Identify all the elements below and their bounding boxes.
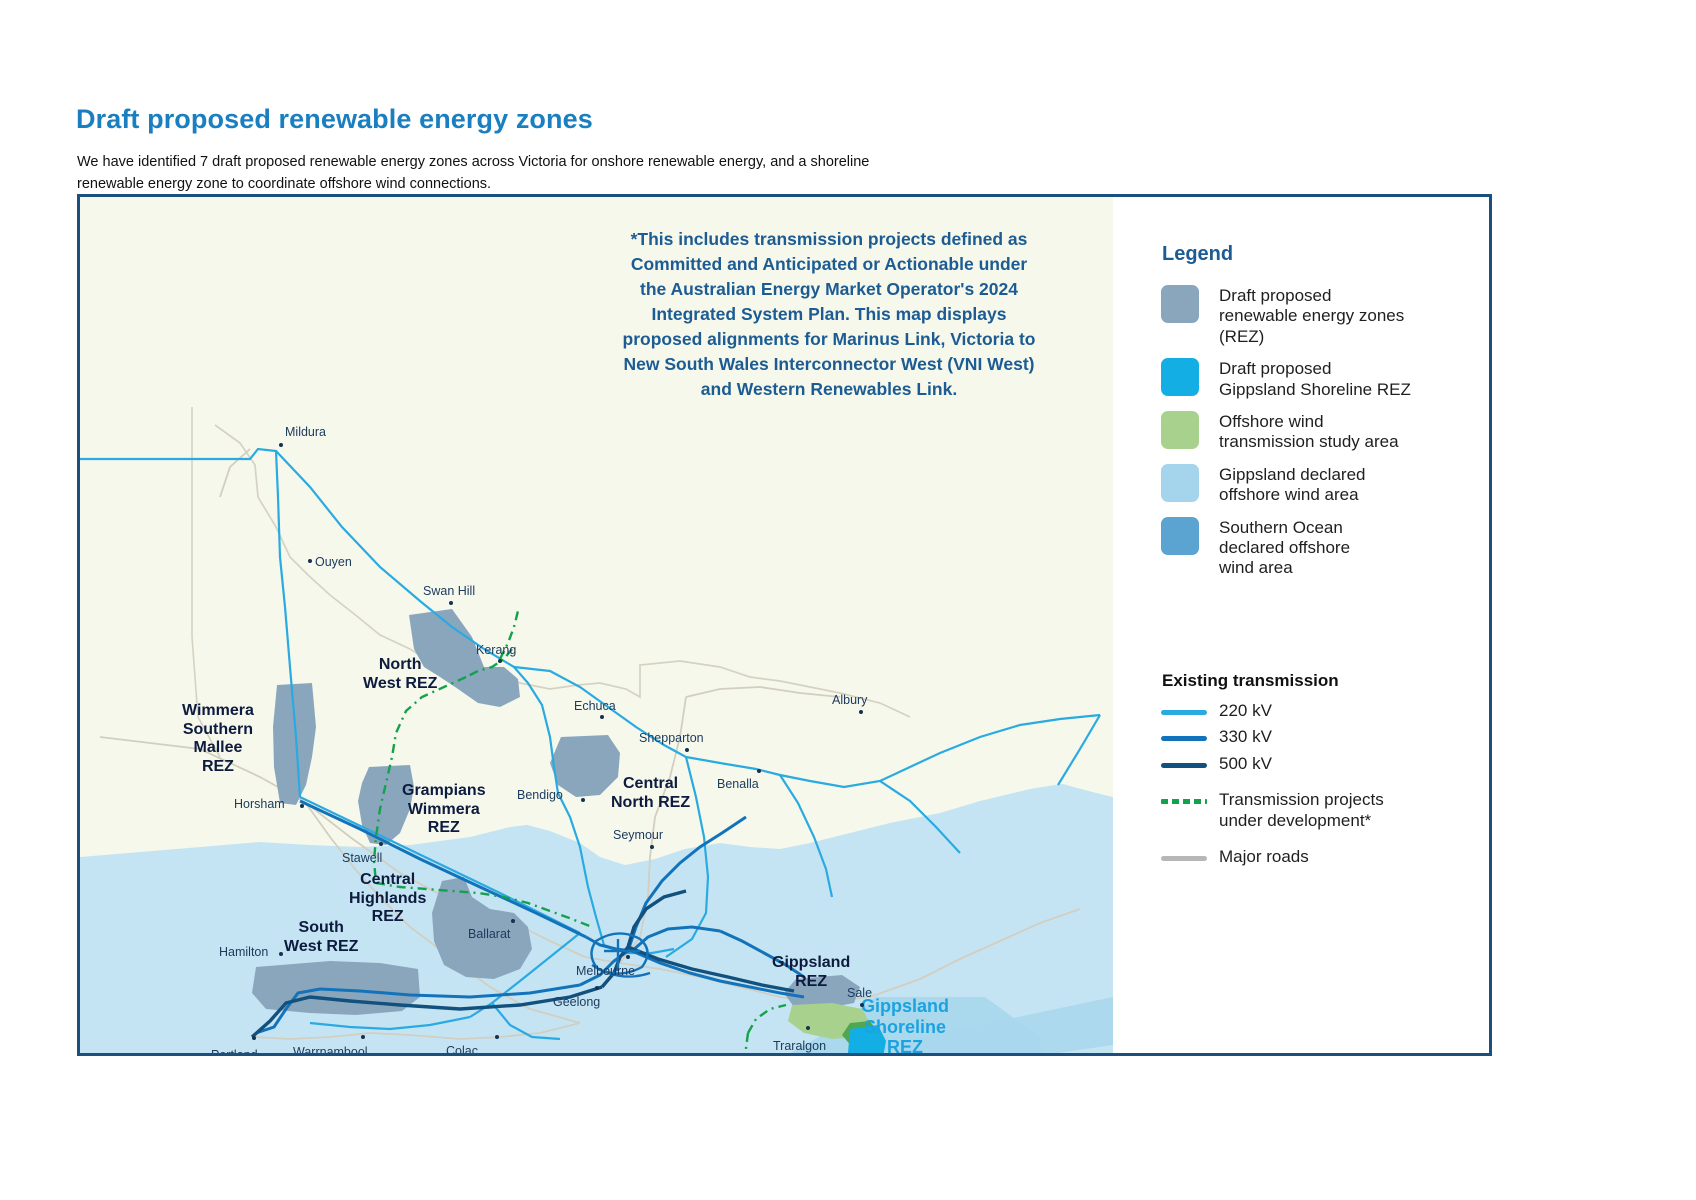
legend-line-item: 330 kV [1127, 727, 1487, 747]
solid-line-icon [1161, 736, 1207, 741]
legend-swatch-icon [1161, 411, 1199, 449]
city-dot-hamilton [279, 952, 283, 956]
city-label-warrnambool: Warrnambool [293, 1046, 368, 1053]
legend-swatch-icon [1161, 285, 1199, 323]
legend-line-item: Transmission projects under development* [1127, 790, 1487, 831]
city-dot-swan-hill [449, 601, 453, 605]
city-dot-echuca [600, 715, 604, 719]
city-dot-ouyen [308, 559, 312, 563]
legend-item-label: Draft proposed Gippsland Shoreline REZ [1219, 358, 1411, 400]
map-note: *This includes transmission projects def… [620, 227, 1038, 402]
legend-line-list: 220 kV330 kV500 kVTransmission projects … [1127, 701, 1487, 873]
solid-line-icon [1161, 710, 1207, 715]
legend-item-label: Draft proposed renewable energy zones (R… [1219, 285, 1404, 347]
legend-swatch-icon [1161, 358, 1199, 396]
city-dot-bendigo [581, 798, 585, 802]
city-dot-warrnambool [361, 1035, 365, 1039]
city-label-mildura: Mildura [285, 426, 326, 439]
solid-line-icon [1161, 856, 1207, 861]
city-label-melbourne: Melbourne [576, 965, 635, 978]
city-dot-geelong [595, 986, 599, 990]
city-label-ouyen: Ouyen [315, 556, 352, 569]
western-port-bay [663, 991, 689, 1015]
legend-line-label: 220 kV [1219, 701, 1272, 721]
city-label-seymour: Seymour [613, 829, 663, 842]
city-dot-stawell [379, 842, 383, 846]
legend-item: Southern Ocean declared offshore wind ar… [1127, 517, 1487, 579]
gippsland-shoreline-rez-label: Gippsland Shoreline REZ [861, 996, 949, 1053]
city-label-traralgon: Traralgon [773, 1040, 826, 1053]
city-dot-colac [495, 1035, 499, 1039]
rez-label-2: Grampians Wimmera REZ [402, 782, 486, 838]
city-label-shepparton: Shepparton [639, 732, 704, 745]
city-label-albury: Albury [832, 694, 867, 707]
city-label-stawell: Stawell [342, 852, 382, 865]
city-dot-shepparton [685, 748, 689, 752]
city-label-benalla: Benalla [717, 778, 759, 791]
legend-line-label: Transmission projects under development* [1219, 790, 1384, 831]
legend-line-label: 500 kV [1219, 754, 1272, 774]
legend-item: Offshore wind transmission study area [1127, 411, 1487, 453]
rez-label-3: Central North REZ [611, 775, 690, 812]
city-dot-horsham [300, 804, 304, 808]
city-dot-albury [859, 710, 863, 714]
rez-label-1: Wimmera Southern Mallee REZ [182, 702, 254, 776]
legend-item: Gippsland declared offshore wind area [1127, 464, 1487, 506]
city-label-hamilton: Hamilton [219, 946, 268, 959]
legend-line-label: 330 kV [1219, 727, 1272, 747]
legend-line-item: 220 kV [1127, 701, 1487, 721]
legend-item-label: Southern Ocean declared offshore wind ar… [1219, 517, 1350, 579]
city-label-echuca: Echuca [574, 700, 616, 713]
city-label-geelong: Geelong [553, 996, 600, 1009]
rez-label-4: Central Highlands REZ [349, 871, 426, 927]
city-dot-seymour [650, 845, 654, 849]
city-dot-mildura [279, 443, 283, 447]
page-subtitle: We have identified 7 draft proposed rene… [77, 151, 877, 196]
legend-item: Draft proposed Gippsland Shoreline REZ [1127, 358, 1487, 400]
legend-panel: Legend Draft proposed renewable energy z… [1113, 197, 1489, 1053]
city-dot-kerang [498, 659, 502, 663]
city-label-portland: Portland [211, 1049, 258, 1053]
dashed-line-icon [1161, 799, 1207, 804]
city-label-horsham: Horsham [234, 798, 285, 811]
city-dot-ballarat [511, 919, 515, 923]
page-title: Draft proposed renewable energy zones [76, 104, 593, 135]
legend-line-item: Major roads [1127, 847, 1487, 867]
legend-item-label: Offshore wind transmission study area [1219, 411, 1399, 453]
page-root: Draft proposed renewable energy zones We… [0, 0, 1696, 1200]
map-figure: *This includes transmission projects def… [77, 194, 1492, 1056]
city-dot-sale [860, 1003, 864, 1007]
city-label-sale: Sale [847, 987, 872, 1000]
legend-item-label: Gippsland declared offshore wind area [1219, 464, 1365, 506]
city-dot-benalla [757, 769, 761, 773]
city-label-bendigo: Bendigo [517, 789, 563, 802]
rez-label-6: Gippsland REZ [772, 954, 850, 991]
rez-label-5: South West REZ [284, 919, 358, 956]
legend-line-item: 500 kV [1127, 754, 1487, 774]
legend-item: Draft proposed renewable energy zones (R… [1127, 285, 1487, 347]
legend-title: Legend [1162, 243, 1233, 266]
city-dot-portland [252, 1036, 256, 1040]
city-dot-traralgon [806, 1026, 810, 1030]
city-label-ballarat: Ballarat [468, 928, 510, 941]
city-label-swan-hill: Swan Hill [423, 585, 475, 598]
city-dot-melbourne [626, 955, 630, 959]
rez-south-west [252, 961, 420, 1015]
legend-swatch-list: Draft proposed renewable energy zones (R… [1127, 285, 1487, 590]
city-label-colac: Colac [446, 1045, 478, 1053]
legend-swatch-icon [1161, 517, 1199, 555]
solid-line-icon [1161, 763, 1207, 768]
legend-swatch-icon [1161, 464, 1199, 502]
rez-label-0: North West REZ [363, 656, 437, 693]
legend-transmission-title: Existing transmission [1162, 671, 1339, 691]
legend-line-label: Major roads [1219, 847, 1309, 867]
city-label-kerang: Kerang [476, 644, 516, 657]
map-canvas[interactable]: *This includes transmission projects def… [80, 197, 1113, 1053]
